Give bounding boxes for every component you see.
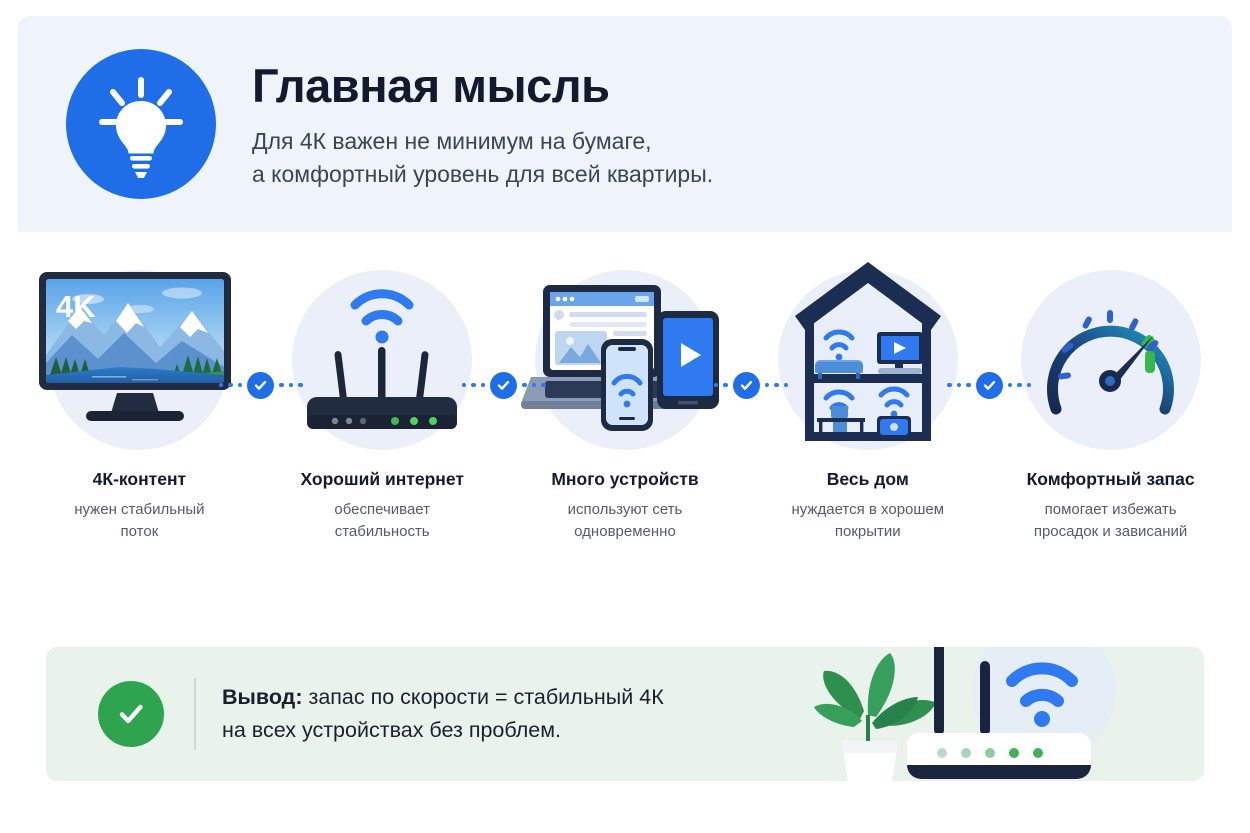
step-caption-line2: одновременно: [574, 523, 676, 540]
connector-dots-right: [1008, 383, 1032, 388]
step-whole-house: Весь дом нуждается в хорошем покрытии: [746, 248, 989, 543]
conclusion-text-rest: запас по скорости = стабильный 4К: [302, 685, 663, 709]
connector-dots-left: [462, 383, 486, 388]
step-caption: нужен стабильный поток: [74, 499, 204, 543]
step-caption-line1: нужен стабильный: [74, 501, 204, 518]
header-text-block: Главная мысль Для 4К важен не минимум на…: [252, 57, 713, 192]
multi-devices-icon: [517, 263, 732, 448]
speed-gauge-icon: [1018, 263, 1203, 448]
connector-2: [470, 370, 538, 400]
step-caption: используют сеть одновременно: [568, 499, 683, 543]
step-caption: нуждается в хорошем покрытии: [791, 499, 944, 543]
check-circle-icon: [733, 372, 760, 399]
step-caption-line1: используют сеть: [568, 501, 683, 518]
step-title: Весь дом: [827, 469, 909, 490]
connector-dots-left: [219, 383, 243, 388]
step-art: [261, 248, 504, 463]
step-caption: обеспечивает стабильность: [334, 499, 430, 543]
header-band: Главная мысль Для 4К важен не минимум на…: [18, 16, 1232, 232]
check-circle-green-icon: [98, 681, 164, 747]
router-plant-wifi-icon: [794, 647, 1194, 781]
conclusion-text: Вывод: запас по скорости = стабильный 4К…: [222, 681, 664, 748]
step-caption-line1: обеспечивает: [334, 501, 430, 518]
vertical-divider: [194, 678, 196, 750]
step-caption-line2: стабильность: [335, 523, 430, 540]
step-caption-line2: просадок и зависаний: [1034, 523, 1187, 540]
connector-dots-left: [704, 383, 728, 388]
connector-dots-left: [947, 383, 971, 388]
connector-dots-right: [522, 383, 546, 388]
infographic-page: Главная мысль Для 4К важен не минимум на…: [0, 0, 1250, 833]
step-caption: помогает избежать просадок и зависаний: [1034, 499, 1187, 543]
step-many-devices: Много устройств используют сеть одноврем…: [504, 248, 747, 543]
step-title: 4К-контент: [93, 469, 186, 490]
step-caption-line2: покрытии: [835, 523, 901, 540]
check-circle-icon: [247, 372, 274, 399]
lightbulb-icon: [66, 49, 216, 199]
conclusion-line2: на всех устройствах без проблем.: [222, 718, 561, 742]
step-title: Хороший интернет: [300, 469, 463, 490]
step-art: [989, 248, 1232, 463]
connector-dots-right: [279, 383, 303, 388]
step-art: [746, 248, 989, 463]
step-caption-line1: помогает избежать: [1045, 501, 1177, 518]
step-comfort-headroom: Комфортный запас помогает избежать проса…: [989, 248, 1232, 543]
tv-4k-label: 4K: [56, 289, 96, 324]
step-caption-line1: нуждается в хорошем: [791, 501, 944, 518]
conclusion-label: Вывод:: [222, 685, 302, 709]
header-subtitle-line1: Для 4К важен не минимум на бумаге,: [252, 125, 713, 158]
step-art: [504, 248, 747, 463]
step-caption-line2: поток: [121, 523, 159, 540]
page-title: Главная мысль: [252, 61, 713, 111]
check-circle-icon: [976, 372, 1003, 399]
step-art: 4K: [18, 248, 261, 463]
connector-1: [227, 370, 295, 400]
step-title: Комфортный запас: [1027, 469, 1195, 490]
house-coverage-icon: [773, 256, 963, 456]
check-circle-icon: [490, 372, 517, 399]
step-good-internet: Хороший интернет обеспечивает стабильнос…: [261, 248, 504, 543]
header-subtitle-line2: а комфортный уровень для всей квартиры.: [252, 158, 713, 191]
wifi-router-icon: [287, 263, 477, 448]
steps-row: 4K 4К-контент нужен стабильный поток: [18, 248, 1232, 608]
step-title: Много устройств: [551, 469, 698, 490]
connector-dots-right: [765, 383, 789, 388]
connector-4: [955, 370, 1023, 400]
tv-4k-icon: 4K: [32, 263, 247, 448]
connector-3: [712, 370, 780, 400]
step-4k-content: 4K 4К-контент нужен стабильный поток: [18, 248, 261, 543]
conclusion-bar: Вывод: запас по скорости = стабильный 4К…: [46, 647, 1204, 781]
